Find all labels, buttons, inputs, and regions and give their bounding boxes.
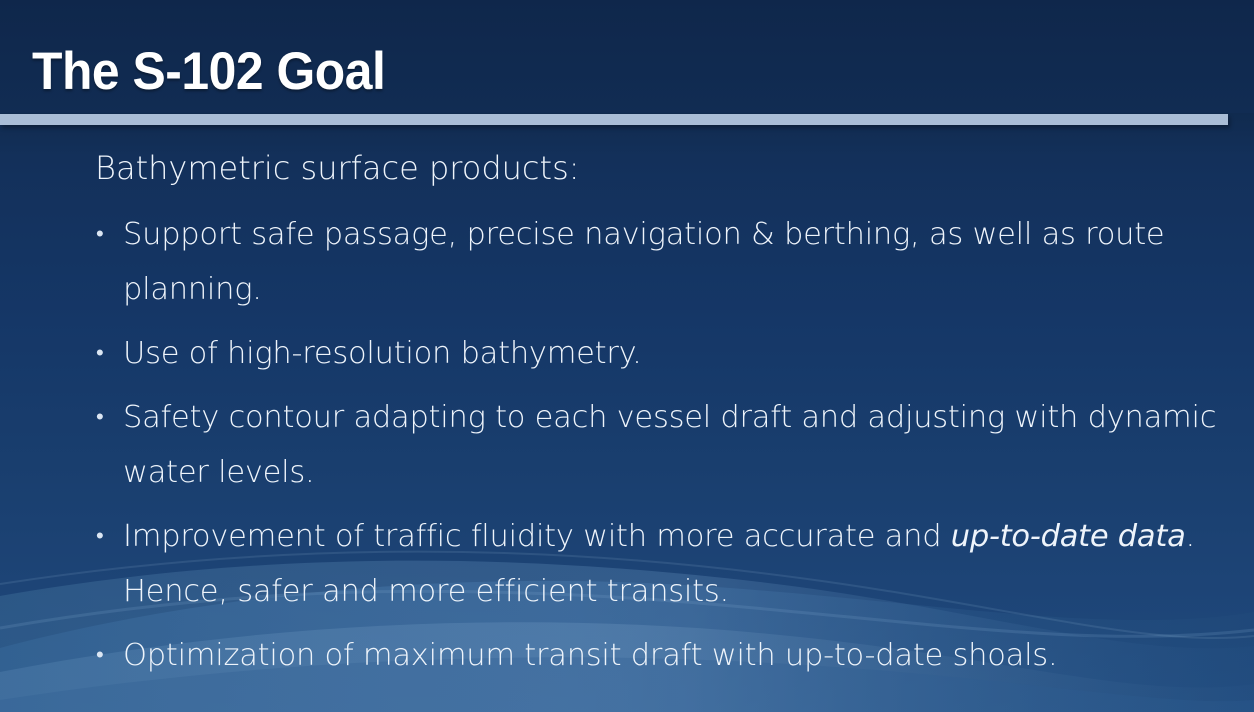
- list-item: Support safe passage, precise navigation…: [95, 207, 1254, 317]
- page-title: The S-102 Goal: [32, 44, 385, 100]
- list-item: Safety contour adapting to each vessel d…: [95, 390, 1254, 500]
- slide-body: Bathymetric surface products: Support sa…: [0, 125, 1254, 712]
- slide: The S-102 Goal Bathymetric surface produ…: [0, 0, 1254, 712]
- bullet-text-before: Improvement of traffic fluidity with mor…: [123, 519, 951, 554]
- intro-text: Bathymetric surface products:: [95, 147, 580, 189]
- bullet-text-before: Safety contour adapting to each vessel d…: [123, 400, 1216, 490]
- bullet-list: Support safe passage, precise navigation…: [95, 207, 1254, 692]
- bullet-text-italic: up-to-date data: [951, 519, 1186, 554]
- title-divider: [0, 114, 1228, 125]
- bullet-text-before: Optimization of maximum transit draft wi…: [123, 638, 1057, 673]
- list-item: Optimization of maximum transit draft wi…: [95, 628, 1254, 683]
- bullet-text-before: Use of high-resolution bathymetry.: [123, 336, 642, 371]
- list-item: Use of high-resolution bathymetry.: [95, 326, 1254, 381]
- list-item: Improvement of traffic fluidity with mor…: [95, 509, 1254, 619]
- bullet-text-before: Support safe passage, precise navigation…: [123, 217, 1164, 307]
